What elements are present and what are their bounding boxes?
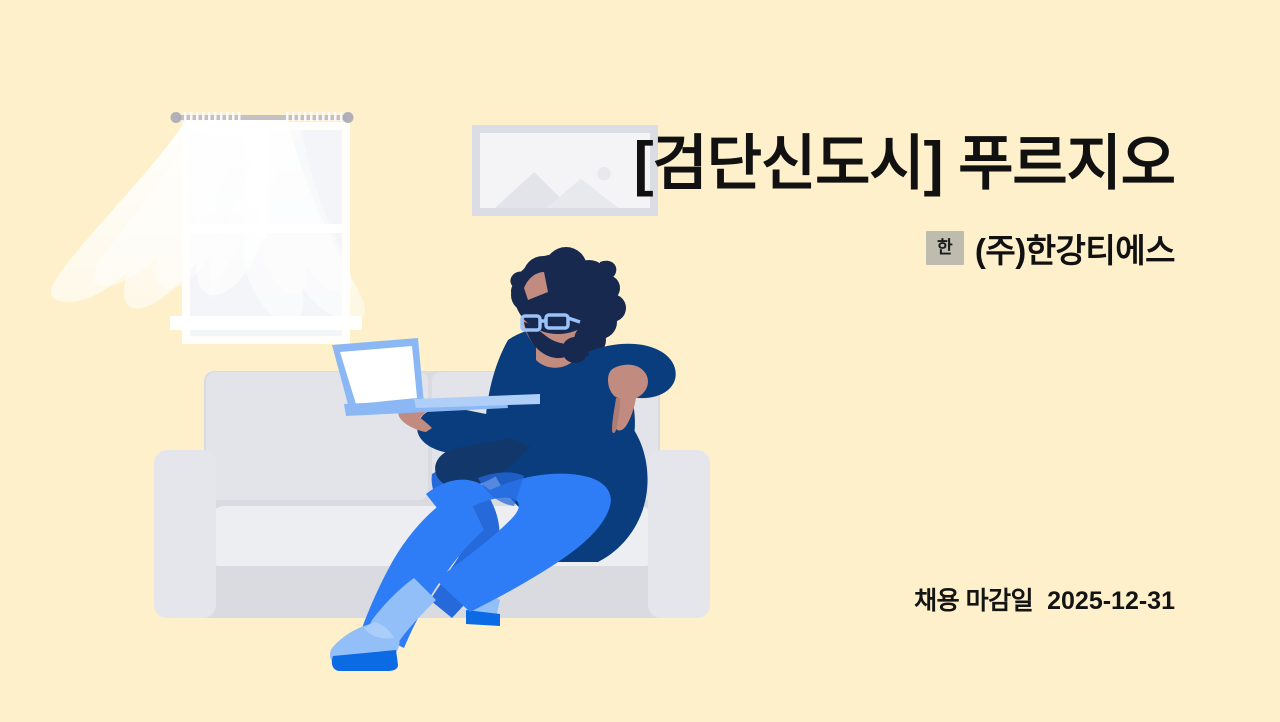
deadline-label: 채용 마감일	[914, 587, 1033, 615]
deadline-date: 2025-12-31	[1047, 587, 1175, 615]
company-name: (주)한강티에스	[975, 224, 1175, 272]
deadline-row: 채용 마감일2025-12-31	[0, 581, 1175, 617]
company-row: 한(주)한강티에스	[0, 224, 1175, 272]
page-title: [검단신도시] 푸르지오	[634, 132, 1175, 197]
page-title-row: [검단신도시] 푸르지오	[0, 132, 1175, 197]
job-posting-poster: [검단신도시] 푸르지오 한(주)한강티에스 채용 마감일2025-12-31	[0, 0, 1280, 722]
company-logo-badge: 한	[926, 231, 964, 265]
